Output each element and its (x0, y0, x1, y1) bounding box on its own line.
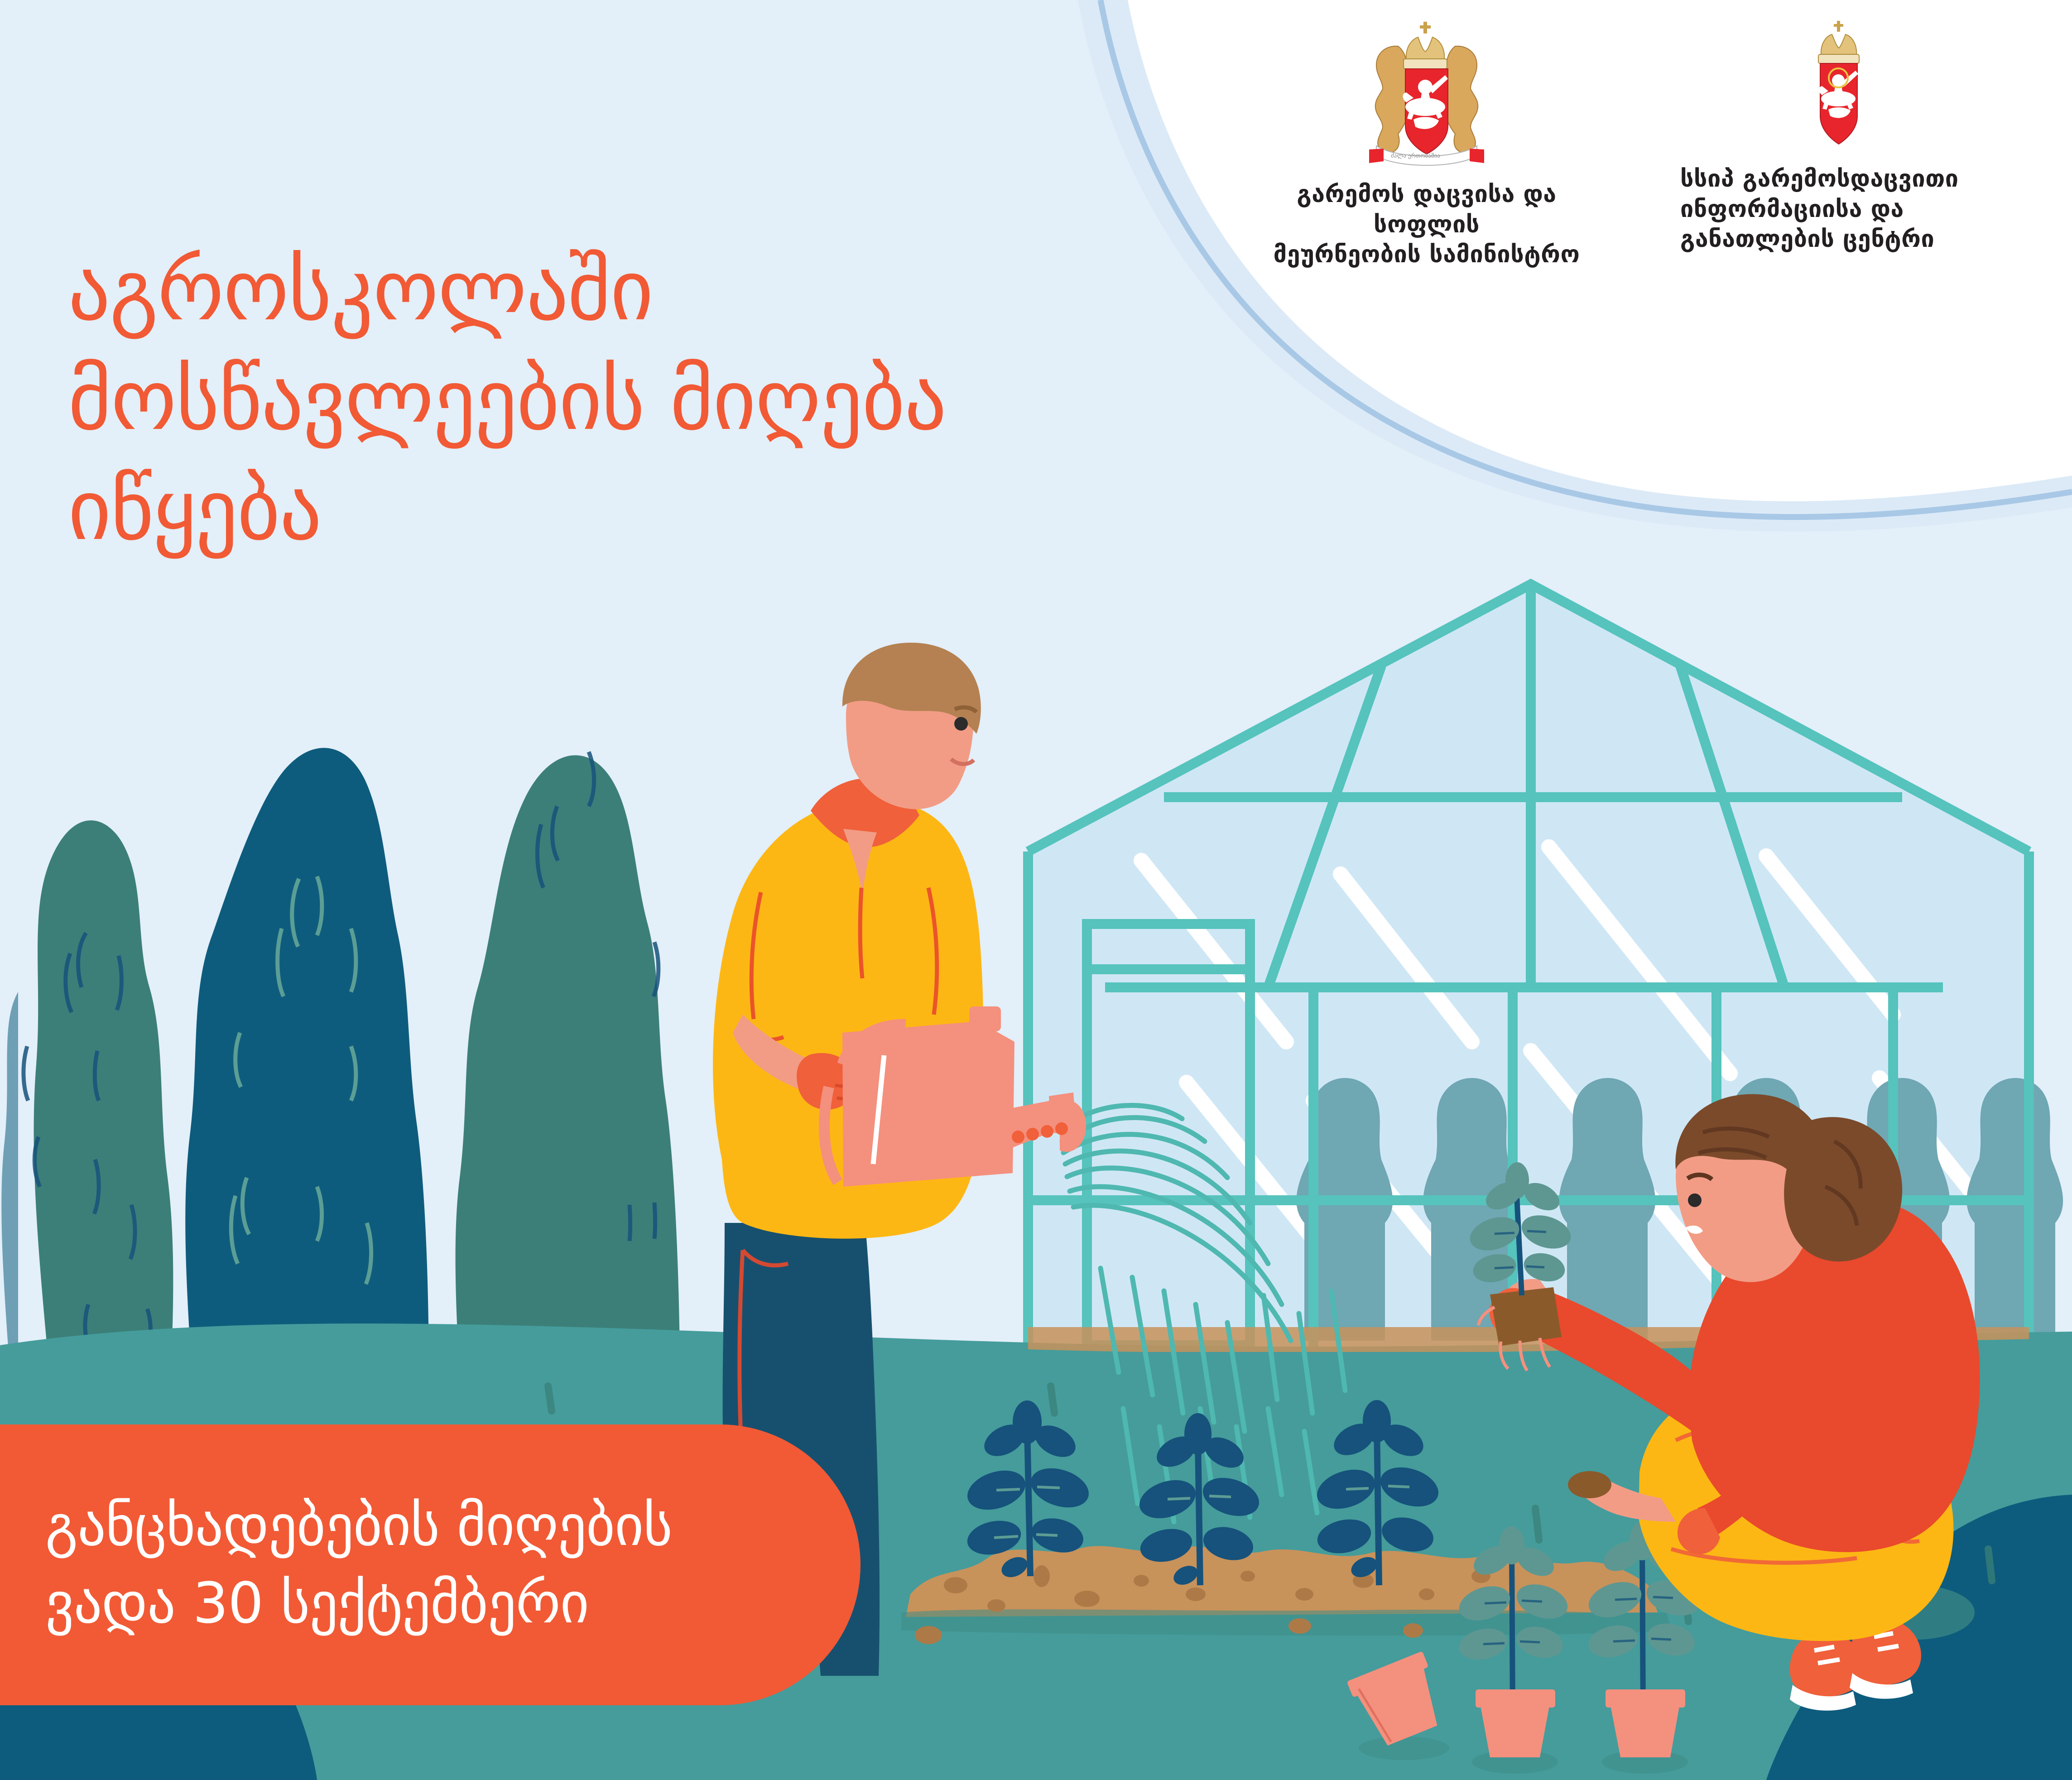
headline-line-3: იწყება (68, 455, 1200, 565)
woman-eye (1688, 1193, 1702, 1207)
deadline-line-1: განცხადებების მიღების (45, 1487, 861, 1565)
logo-caption-ministry-line2: მეურნეობის სამინისტრო (1248, 240, 1606, 270)
deadline-line-2: ვადა 30 სექტემბერი (45, 1565, 861, 1642)
page-title: აგროსკოლაში მოსწავლეების მიღება იწყება (68, 236, 1200, 565)
soil-in-hand (1568, 1471, 1611, 1498)
georgia-lesser-coat-of-arms-icon (1800, 18, 1877, 154)
headline-line-2: მოსწავლეების მიღება (68, 345, 1200, 455)
headline-line-1: აგროსკოლაში (68, 236, 1200, 345)
svg-text:ძალა ერთობაშია: ძალა ერთობაშია (1391, 153, 1440, 159)
can-lid (969, 1006, 1001, 1031)
crown (1818, 21, 1859, 63)
logo-caption-ministry-line1: გარემოს დაცვისა და სოფლის (1248, 179, 1606, 240)
can-body (842, 1021, 1014, 1187)
logo-caption-ministry: გარემოს დაცვისა და სოფლის მეურნეობის სამ… (1248, 179, 1606, 270)
logo-block-centre: სსიპ გარემოსდაცვითი ინფორმაციისა და განა… (1658, 18, 2020, 255)
logo-caption-centre: სსიპ გარემოსდაცვითი ინფორმაციისა და განა… (1680, 164, 1997, 255)
logo-caption-centre-line2: ინფორმაციისა და (1680, 194, 1997, 225)
man-eye (954, 717, 968, 731)
deadline-banner: განცხადებების მიღების ვადა 30 სექტემბერი (0, 1424, 861, 1705)
root-ball (1490, 1287, 1562, 1346)
logo-caption-centre-line1: სსიპ გარემოსდაცვითი (1680, 164, 1997, 194)
crown (1404, 22, 1447, 69)
georgia-greater-coat-of-arms-icon: ძალა ერთობაშია (1356, 18, 1497, 168)
logo-block-ministry: ძალა ერთობაშია გარემოს დაცვისა და სოფლის… (1241, 18, 1612, 270)
logo-caption-centre-line3: განათლების ცენტრი (1680, 224, 1997, 255)
poster-canvas: ძალა ერთობაშია გარემოს დაცვისა და სოფლის… (0, 0, 2072, 1780)
